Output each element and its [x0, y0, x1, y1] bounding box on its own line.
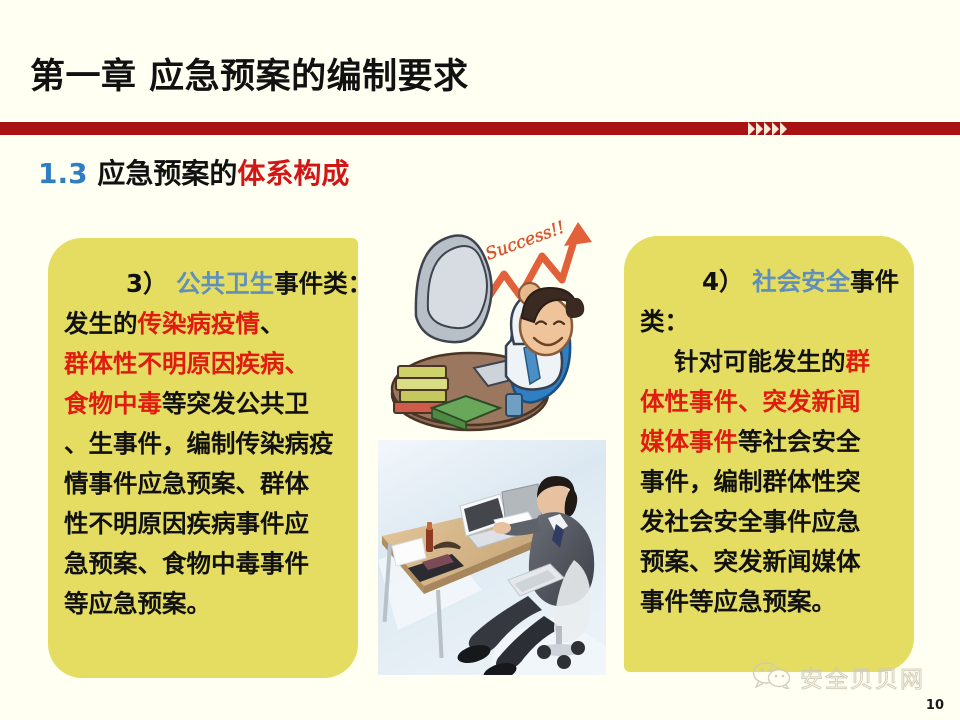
panel-text-run: 群 — [846, 347, 871, 376]
panel-text-run: 针对可能发生的 — [674, 347, 846, 376]
content-panel-social-security: 4） 社会安全事件类：针对可能发生的群体性事件、突发新闻媒体事件等社会安全事件，… — [624, 236, 914, 672]
panel-text-run: 体性事件、突发新闻 — [640, 387, 861, 416]
content-panel-public-health: 3） 公共卫生事件类：发生的传染病疫情、群体性不明原因疾病、食物中毒等突发公共卫… — [48, 238, 358, 678]
wechat-icon — [752, 661, 792, 693]
panel-text-line: 发生的传染病疫情、 — [64, 304, 344, 344]
watermark-text: 安全贝贝网 — [800, 660, 925, 694]
panel-text-run: 4） — [702, 267, 744, 296]
panel-text-line: 急预案、食物中毒事件 — [64, 544, 344, 584]
panel-text-line: 媒体事件等社会安全 — [640, 422, 900, 462]
section-subtitle-plain: 应急预案的 — [97, 157, 237, 190]
double-chevron-right-icon — [748, 121, 787, 136]
panel-text-run: 社会安全 — [752, 267, 850, 296]
panel-text-run: 情事件应急预案、群体 — [64, 469, 309, 498]
panel-text-run: 传染病疫情 — [138, 309, 261, 338]
section-subtitle-accent: 体系构成 — [237, 157, 349, 190]
panel-text-line: 食物中毒等突发公共卫 — [64, 384, 344, 424]
panel-text-run: 发生的 — [64, 309, 138, 338]
panel-text-line: 类： — [640, 302, 900, 342]
panel-text-run: 事件类： — [274, 269, 372, 298]
panel-text-run: 、生事件，编制传染病疫 — [64, 429, 334, 458]
panel-text-run: 等应急预案。 — [64, 589, 211, 618]
panel-text-line: 4） 社会安全事件 — [640, 262, 900, 302]
page-number: 10 — [926, 698, 944, 713]
panel-text-run: 食物中毒 — [64, 389, 162, 418]
panel-text-line: 预案、突发新闻媒体 — [640, 542, 900, 582]
panel-text-run: 公共卫生 — [176, 269, 274, 298]
panel-text-run: 性不明原因疾病事件应 — [64, 509, 309, 538]
panel-text-line: 情事件应急预案、群体 — [64, 464, 344, 504]
section-number: 1.3 — [38, 157, 88, 190]
panel-text-line: 等应急预案。 — [64, 584, 344, 624]
panel-text-line: 、生事件，编制传染病疫 — [64, 424, 344, 464]
panel-text-line: 事件，编制群体性突 — [640, 462, 900, 502]
panel-text-run: 急预案、食物中毒事件 — [64, 549, 309, 578]
cartoon-office-worker-celebrating-illustration: Success!! — [378, 198, 606, 438]
panel-text-run: 发社会安全事件应急 — [640, 507, 861, 536]
section-subtitle: 1.3 应急预案的体系构成 — [38, 152, 349, 192]
panel-text-run: 等社会安全 — [738, 427, 861, 456]
panel-text-run: 类： — [640, 307, 689, 336]
page-title: 第一章 应急预案的编制要求 — [30, 48, 469, 99]
header-divider — [0, 122, 960, 135]
panel-text-line: 性不明原因疾病事件应 — [64, 504, 344, 544]
panel-text-run: 3） — [126, 269, 168, 298]
panel-text-run: 事件等应急预案。 — [640, 587, 836, 616]
panel-text-run — [744, 267, 753, 296]
panel-text-line: 群体性不明原因疾病、 — [64, 344, 344, 384]
panel-text-line: 针对可能发生的群 — [640, 342, 900, 382]
businessman-at-desk-photo — [378, 440, 606, 675]
panel-text-run: 群体性不明原因疾病、 — [64, 349, 309, 378]
panel-text-run — [168, 269, 177, 298]
panel-text-run: 媒体事件 — [640, 427, 738, 456]
panel-text-line: 发社会安全事件应急 — [640, 502, 900, 542]
panel-text-line: 事件等应急预案。 — [640, 582, 900, 622]
panel-text-line: 体性事件、突发新闻 — [640, 382, 900, 422]
panel-text-run: 等突发公共卫 — [162, 389, 309, 418]
panel-text-run: 事件，编制群体性突 — [640, 467, 861, 496]
panel-text-run: 预案、突发新闻媒体 — [640, 547, 861, 576]
header-divider-highlight — [0, 135, 960, 137]
panel-text-line: 3） 公共卫生事件类： — [64, 264, 344, 304]
panel-text-run: 、 — [260, 309, 285, 338]
watermark: 安全贝贝网 — [752, 660, 925, 694]
panel-text-run: 事件 — [850, 267, 899, 296]
